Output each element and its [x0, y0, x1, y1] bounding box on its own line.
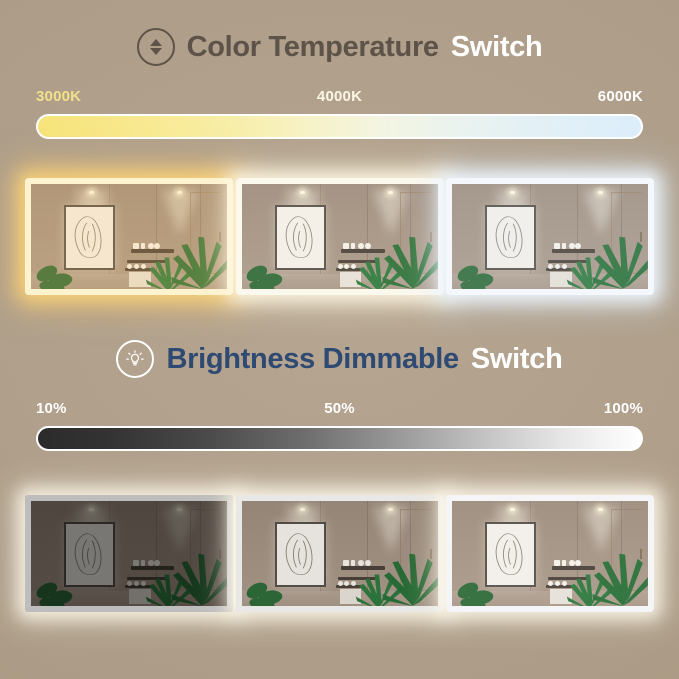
mirror-6000k	[446, 178, 654, 295]
color-temperature-heading: Color Temperature Switch	[0, 28, 679, 66]
scale-label-10-percent: 10%	[36, 400, 67, 417]
brightness-gradient-bar[interactable]	[36, 426, 643, 451]
mirror-50-percent	[236, 495, 444, 612]
mirror-100-percent	[446, 495, 654, 612]
brightness-dimmable-section: Brightness Dimmable Switch 10% 50% 100%	[0, 340, 679, 378]
brightness-dimmable-heading: Brightness Dimmable Switch	[0, 340, 679, 378]
up-down-arrow-icon	[137, 28, 175, 66]
brightness-scale-labels: 10% 50% 100%	[36, 400, 643, 420]
scale-label-4000k: 4000K	[317, 88, 362, 105]
color-temperature-title: Color Temperature	[187, 33, 439, 62]
brightness-dimmable-title: Brightness Dimmable	[166, 345, 458, 374]
mirror-3000k	[25, 178, 233, 295]
color-temperature-section: Color Temperature Switch 3000K 4000K 600…	[0, 28, 679, 66]
scale-label-6000k: 6000K	[598, 88, 643, 105]
brightness-previews	[25, 495, 654, 612]
scale-label-100-percent: 100%	[604, 400, 643, 417]
product-feature-page: Color Temperature Switch 3000K 4000K 600…	[0, 0, 679, 679]
color-temperature-title-switch: Switch	[451, 33, 543, 62]
scale-label-50-percent: 50%	[324, 400, 355, 417]
mirror-4000k	[236, 178, 444, 295]
color-temperature-gradient-bar[interactable]	[36, 114, 643, 139]
mirror-10-percent	[25, 495, 233, 612]
color-temperature-scale-labels: 3000K 4000K 6000K	[36, 88, 643, 108]
scale-label-3000k: 3000K	[36, 88, 81, 105]
color-temperature-previews	[25, 178, 654, 295]
brightness-dimmable-title-switch: Switch	[471, 345, 563, 374]
lightbulb-icon	[116, 340, 154, 378]
